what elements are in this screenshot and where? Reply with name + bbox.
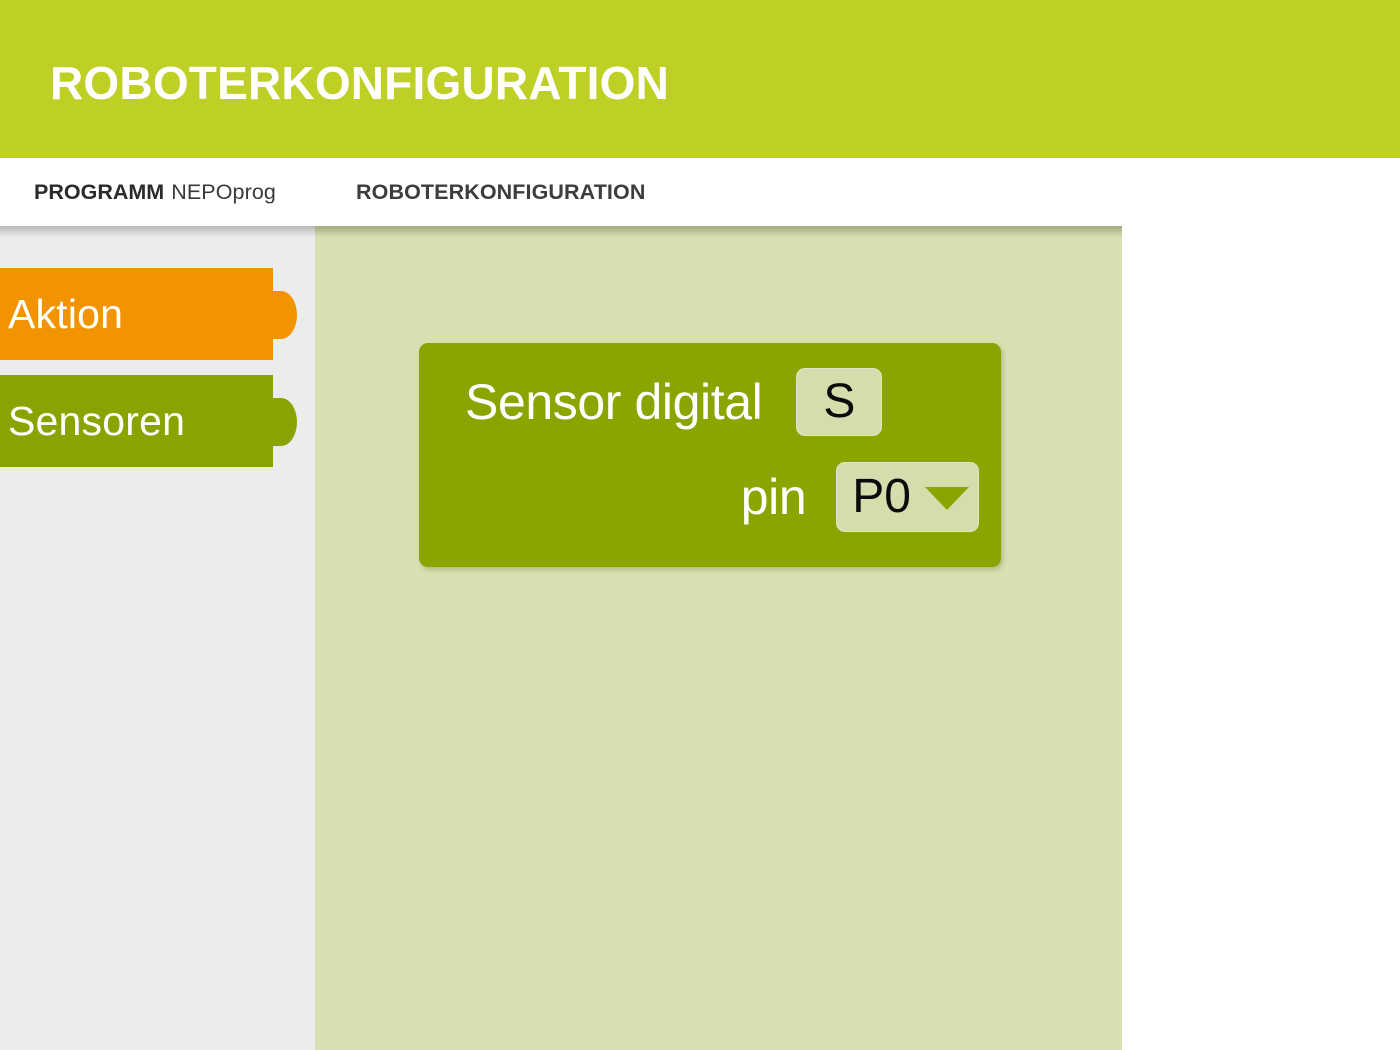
puzzle-knob-icon [265, 398, 297, 446]
tab-roboterkonfiguration[interactable]: ROBOTERKONFIGURATION [332, 158, 669, 226]
pin-dropdown-value: P0 [852, 473, 911, 521]
toolbox-category-aktion[interactable]: Aktion [0, 268, 302, 360]
sensor-digital-block-title: Sensor digital [465, 377, 762, 427]
tab-programm-strong-label: PROGRAMM [34, 180, 164, 205]
sensor-digital-block-row-pin: pin P0 [741, 463, 979, 531]
configuration-canvas[interactable]: Sensor digital S pin P0 [315, 226, 1122, 1050]
sensor-digital-block[interactable]: Sensor digital S pin P0 [419, 343, 1001, 567]
page-title: ROBOTERKONFIGURATION [50, 54, 669, 112]
toolbox-category-sensoren[interactable]: Sensoren [0, 375, 302, 467]
block-toolbox: Aktion Sensoren [0, 226, 315, 1050]
sensor-name-field[interactable]: S [796, 368, 882, 436]
app-root: ROBOTERKONFIGURATION PROGRAMM NEPOprog R… [0, 0, 1400, 1050]
app-header: ROBOTERKONFIGURATION [0, 0, 1400, 158]
workspace: Aktion Sensoren Sensor digital S pin [0, 226, 1400, 1050]
sensor-digital-block-row-name: Sensor digital S [465, 368, 882, 436]
chevron-down-icon[interactable] [925, 487, 969, 510]
toolbox-top-shadow [0, 226, 315, 237]
tab-programm-label: NEPOprog [171, 180, 276, 205]
puzzle-knob-icon [265, 291, 297, 339]
canvas-top-shadow [315, 226, 1122, 237]
tab-programm[interactable]: PROGRAMM NEPOprog [10, 158, 300, 226]
pin-label: pin [741, 472, 807, 522]
tab-roboterkonfiguration-label: ROBOTERKONFIGURATION [356, 180, 645, 205]
sensor-name-field-value: S [823, 378, 855, 426]
toolbox-category-aktion-label: Aktion [8, 268, 123, 360]
pin-dropdown[interactable]: P0 [836, 462, 979, 532]
toolbox-category-sensoren-label: Sensoren [8, 375, 185, 467]
tab-bar: PROGRAMM NEPOprog ROBOTERKONFIGURATION [0, 158, 1400, 226]
